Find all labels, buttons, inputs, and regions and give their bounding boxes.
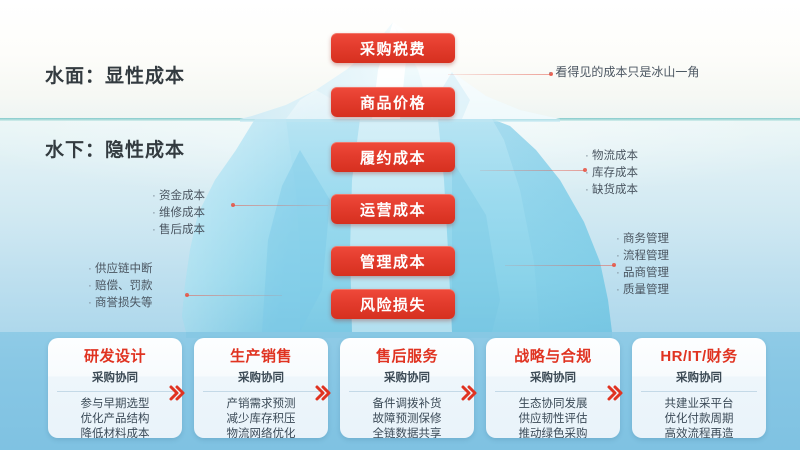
card-subtitle: 采购协同 [48, 369, 182, 385]
card-divider [203, 391, 319, 392]
card-items: 共建业采平台 优化付款周期 高效流程再造 [632, 397, 766, 438]
connector-line-left-upper [232, 205, 328, 206]
card-item: 推动绿色采购 [486, 427, 620, 438]
annotation-line: 缺货成本 [585, 182, 638, 199]
card-divider [641, 391, 757, 392]
card-item: 高效流程再造 [632, 427, 766, 438]
card-subtitle: 采购协同 [340, 369, 474, 385]
card-title: 战略与合规 [486, 345, 620, 366]
card-items: 参与早期选型 优化产品结构 降低材料成本 [48, 397, 182, 438]
card-items: 生态协同发展 供应韧性评估 推动绿色采购 [486, 397, 620, 438]
infographic-canvas: 水面：显性成本 水下：隐性成本 采购税费 商品价格 履约成本 运营成本 管理成本… [0, 0, 800, 450]
annotation-line: 库存成本 [585, 165, 638, 182]
annotation-line: 售后成本 [152, 222, 205, 239]
stage-card-hr-it-finance[interactable]: HR/IT/财务 采购协同 共建业采平台 优化付款周期 高效流程再造 [632, 338, 766, 438]
annotation-tip-note: 看得见的成本只是冰山一角 [548, 64, 699, 81]
cost-badge-management[interactable]: 管理成本 [331, 246, 455, 276]
annotation-right-upper: 物流成本 库存成本 缺货成本 [585, 148, 638, 199]
heading-above-water: 水面：显性成本 [45, 61, 185, 88]
card-items: 备件调拨补货 故障预测保修 全链数据共享 [340, 397, 474, 438]
card-item: 物流网络优化 [194, 427, 328, 438]
card-item: 共建业采平台 [632, 397, 766, 412]
stage-card-strategy-compliance[interactable]: 战略与合规 采购协同 生态协同发展 供应韧性评估 推动绿色采购 [486, 338, 620, 438]
stage-card-row: 研发设计 采购协同 参与早期选型 优化产品结构 降低材料成本 生产销售 采购协同… [0, 332, 800, 450]
card-item: 降低材料成本 [48, 427, 182, 438]
connector-dot-left-lower [185, 293, 189, 297]
connector-dot-left-upper [231, 203, 235, 207]
card-title: 研发设计 [48, 345, 182, 366]
card-divider [57, 391, 173, 392]
annotation-left-upper: 资金成本 维修成本 售后成本 [152, 188, 205, 239]
card-item: 故障预测保修 [340, 412, 474, 427]
cost-badge-operations[interactable]: 运营成本 [331, 194, 455, 224]
card-divider [495, 391, 611, 392]
annotation-line: 商务管理 [616, 231, 669, 248]
card-item: 减少库存积压 [194, 412, 328, 427]
annotation-line: 资金成本 [152, 188, 205, 205]
stage-card-after-sales[interactable]: 售后服务 采购协同 备件调拨补货 故障预测保修 全链数据共享 [340, 338, 474, 438]
connector-line-right-lower [505, 265, 615, 266]
cost-badge-risk-loss[interactable]: 风险损失 [331, 289, 455, 319]
connector-line-tip [448, 74, 552, 75]
card-item: 优化产品结构 [48, 412, 182, 427]
card-item: 优化付款周期 [632, 412, 766, 427]
card-title: HR/IT/财务 [632, 345, 766, 366]
card-item: 备件调拨补货 [340, 397, 474, 412]
chevron-double-right-icon [460, 384, 478, 402]
chevron-double-right-icon [606, 384, 624, 402]
card-item: 供应韧性评估 [486, 412, 620, 427]
cost-badge-fulfillment[interactable]: 履约成本 [331, 142, 455, 172]
card-item: 参与早期选型 [48, 397, 182, 412]
card-title: 生产销售 [194, 345, 328, 366]
annotation-right-lower: 商务管理 流程管理 品商管理 质量管理 [616, 231, 669, 299]
stage-card-rd-design[interactable]: 研发设计 采购协同 参与早期选型 优化产品结构 降低材料成本 [48, 338, 182, 438]
card-item: 全链数据共享 [340, 427, 474, 438]
annotation-line: 物流成本 [585, 148, 638, 165]
annotation-line: 流程管理 [616, 248, 669, 265]
chevron-double-right-icon [168, 384, 186, 402]
cost-badge-procurement-tax[interactable]: 采购税费 [331, 33, 455, 63]
annotation-line: 维修成本 [152, 205, 205, 222]
annotation-line: 赔偿、罚款 [88, 278, 153, 295]
card-items: 产销需求预测 减少库存积压 物流网络优化 [194, 397, 328, 438]
card-item: 生态协同发展 [486, 397, 620, 412]
card-divider [349, 391, 465, 392]
heading-below-water: 水下：隐性成本 [45, 135, 185, 162]
chevron-double-right-icon [314, 384, 332, 402]
annotation-line: 供应链中断 [88, 261, 153, 278]
annotation-line: 看得见的成本只是冰山一角 [548, 64, 699, 81]
card-item: 产销需求预测 [194, 397, 328, 412]
annotation-line: 质量管理 [616, 282, 669, 299]
card-subtitle: 采购协同 [194, 369, 328, 385]
annotation-line: 品商管理 [616, 265, 669, 282]
annotation-line: 商誉损失等 [88, 295, 153, 312]
annotation-left-lower: 供应链中断 赔偿、罚款 商誉损失等 [88, 261, 153, 312]
card-subtitle: 采购协同 [486, 369, 620, 385]
cost-badge-product-price[interactable]: 商品价格 [331, 87, 455, 117]
connector-line-left-lower [186, 295, 282, 296]
stage-card-production-sales[interactable]: 生产销售 采购协同 产销需求预测 减少库存积压 物流网络优化 [194, 338, 328, 438]
card-title: 售后服务 [340, 345, 474, 366]
card-subtitle: 采购协同 [632, 369, 766, 385]
connector-line-right-upper [480, 170, 585, 171]
